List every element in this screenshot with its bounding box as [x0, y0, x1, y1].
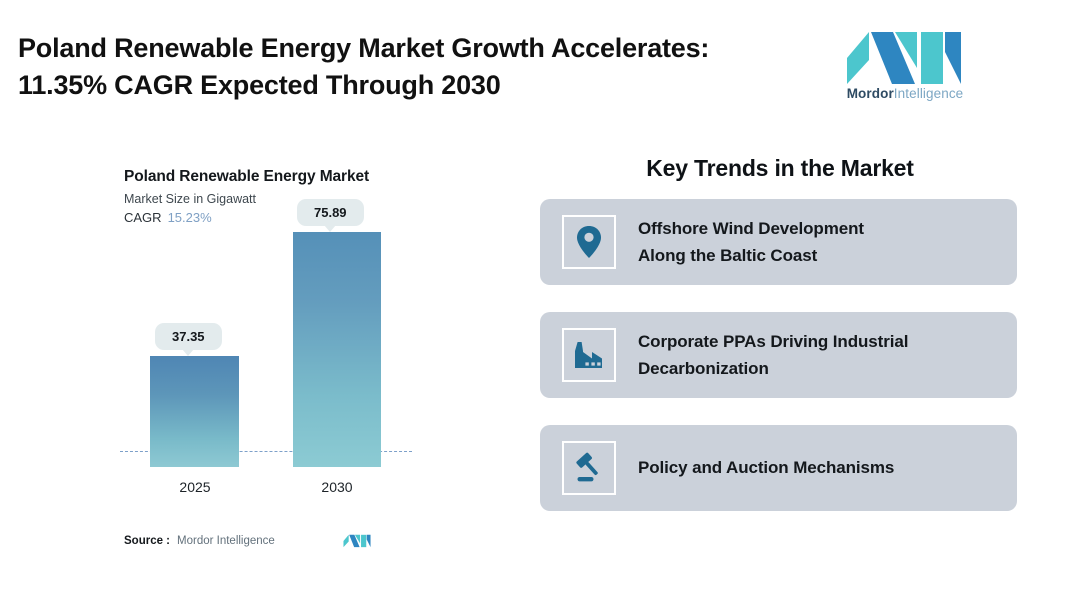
mordor-intelligence-logo-icon [845, 28, 963, 84]
chart-cagr-label: CAGR [124, 210, 162, 225]
trend-card-text: Policy and Auction Mechanisms [638, 454, 894, 481]
page-title: Poland Renewable Energy Market Growth Ac… [18, 30, 818, 105]
trend-card-policy-auction[interactable]: Policy and Auction Mechanisms [540, 425, 1017, 511]
page-title-line-1: Poland Renewable Energy Market Growth Ac… [18, 30, 818, 67]
trend-text-line-1: Policy and Auction Mechanisms [638, 454, 894, 481]
mordor-intelligence-logo-small-icon [343, 532, 371, 549]
gavel-icon [573, 452, 605, 484]
chart-source-value: Mordor Intelligence [177, 535, 275, 547]
trend-text-line-2: Along the Baltic Coast [638, 242, 864, 269]
trend-icon-box [562, 441, 616, 495]
trend-icon-box [562, 215, 616, 269]
bar-value-label-2030: 75.89 [297, 199, 364, 226]
chart-title: Poland Renewable Energy Market [124, 168, 369, 186]
factory-icon [573, 340, 605, 370]
x-axis-label-2025: 2025 [150, 479, 240, 495]
trend-text-line-1: Offshore Wind Development [638, 215, 864, 242]
chart-subtitle: Market Size in Gigawatt [124, 192, 256, 206]
x-axis-label-2030: 2030 [292, 479, 382, 495]
trend-text-line-1: Corporate PPAs Driving Industrial [638, 328, 908, 355]
trend-card-text: Corporate PPAs Driving Industrial Decarb… [638, 328, 908, 382]
key-trends-panel: Key Trends in the Market Offshore Wind D… [540, 155, 1020, 555]
trend-card-corporate-ppas[interactable]: Corporate PPAs Driving Industrial Decarb… [540, 312, 1017, 398]
chart-panel: Poland Renewable Energy Market Market Si… [0, 160, 520, 570]
trend-icon-box [562, 328, 616, 382]
chart-source: Source : Mordor Intelligence [124, 532, 424, 549]
brand-wordmark: MordorIntelligence [845, 86, 965, 101]
bar-2025[interactable] [150, 356, 239, 467]
page-title-line-2: 11.35% CAGR Expected Through 2030 [18, 67, 818, 104]
brand-word-mordor: Mordor [847, 86, 894, 101]
chart-cagr: CAGR15.23% [124, 210, 212, 225]
bar-chart-plot: 37.35 75.89 2025 2030 [0, 230, 520, 520]
brand-logo: MordorIntelligence [845, 28, 965, 108]
trend-card-offshore-wind[interactable]: Offshore Wind Development Along the Balt… [540, 199, 1017, 285]
map-pin-icon [574, 225, 604, 259]
bar-2030[interactable] [293, 232, 381, 467]
key-trends-heading: Key Trends in the Market [540, 155, 1020, 182]
bar-value-label-2025: 37.35 [155, 323, 222, 350]
brand-word-intelligence: Intelligence [894, 86, 964, 101]
trend-card-text: Offshore Wind Development Along the Balt… [638, 215, 864, 269]
infographic-page: Poland Renewable Energy Market Growth Ac… [0, 0, 1080, 598]
trend-text-line-2: Decarbonization [638, 355, 908, 382]
chart-cagr-value: 15.23% [168, 210, 212, 225]
chart-source-label: Source : [124, 535, 170, 547]
